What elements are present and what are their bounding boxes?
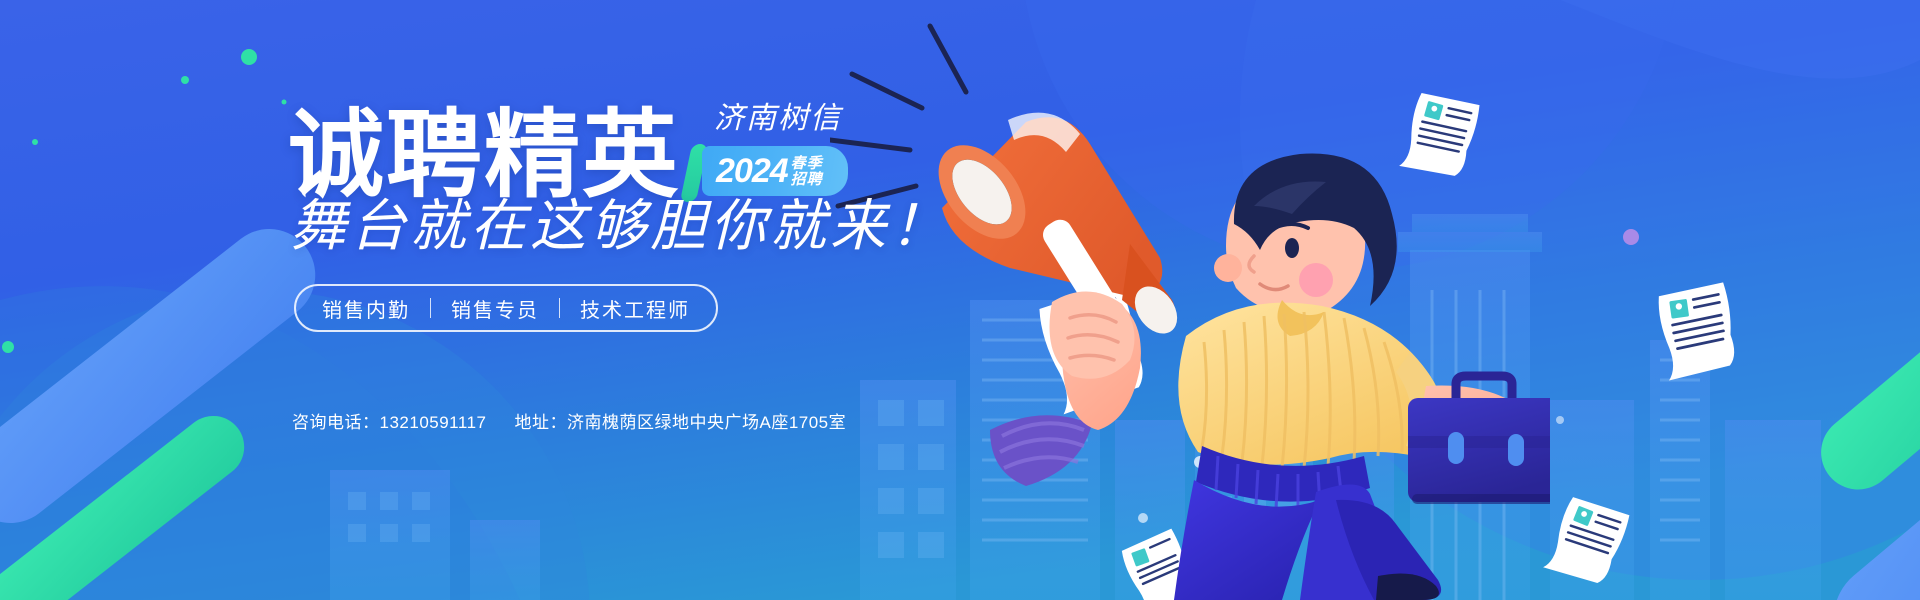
badge-line-2: 招聘	[791, 172, 823, 188]
badge-line-1: 春季	[791, 156, 823, 172]
brand-block: 济南树信 2024 春季 招聘	[698, 104, 868, 202]
position-item[interactable]: 销售专员	[451, 294, 539, 323]
eye	[1285, 238, 1299, 258]
position-separator	[430, 298, 431, 318]
badge-subtext: 春季 招聘	[791, 156, 823, 188]
left-hand	[1050, 291, 1135, 378]
recruitment-banner: 诚聘精英 济南树信 2024 春季 招聘 舞台就在这够胆你就来！ 销售内勤 销售…	[0, 0, 1920, 600]
page-title: 诚聘精英	[288, 108, 680, 204]
head	[1214, 154, 1397, 315]
company-name: 济南树信	[714, 104, 842, 134]
headline-row: 诚聘精英 济南树信 2024 春季 招聘	[288, 104, 868, 204]
positions-list: 销售内勤 销售专员 技术工程师	[294, 284, 718, 332]
badge-year: 2024	[716, 154, 788, 188]
contact-address: 地址：济南槐荫区绿地中央广场A座1705室	[514, 408, 846, 433]
slogan: 舞台就在这够胆你就来！	[290, 198, 950, 254]
cheek-blush	[1299, 263, 1333, 297]
briefcase-clasp	[1448, 432, 1464, 464]
position-item[interactable]: 技术工程师	[580, 294, 690, 323]
banner-content: 诚聘精英 济南树信 2024 春季 招聘 舞台就在这够胆你就来！ 销售内勤 销售…	[288, 0, 1048, 600]
position-separator	[559, 298, 560, 318]
season-badge: 2024 春季 招聘	[702, 146, 848, 196]
contact-info: 咨询电话：13210591117 地址：济南槐荫区绿地中央广场A座1705室	[292, 408, 846, 433]
shirt	[1178, 300, 1448, 468]
briefcase-clasp	[1508, 434, 1524, 466]
position-item[interactable]: 销售内勤	[322, 294, 410, 323]
contact-phone: 咨询电话：13210591117	[292, 408, 486, 433]
